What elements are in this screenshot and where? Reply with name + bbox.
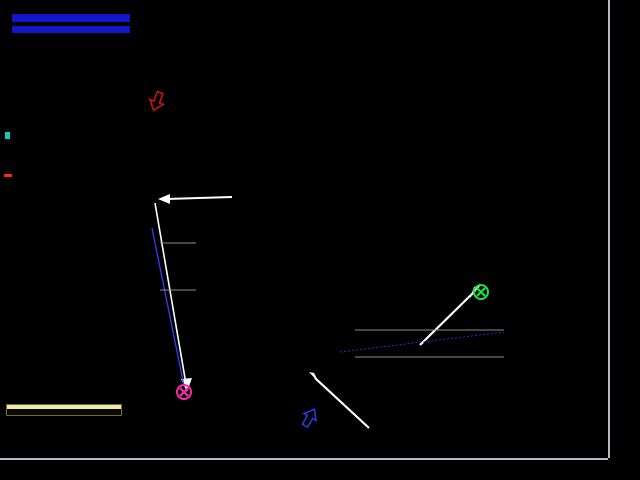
panel-header-bar <box>12 14 130 22</box>
legend-cyan-swatch <box>5 132 10 139</box>
chart-plot-area[interactable] <box>0 0 608 458</box>
exit-sell-marker <box>177 385 191 399</box>
chart-graphics <box>0 0 608 458</box>
trend-pro-panel <box>4 14 130 35</box>
axis-corner <box>608 458 640 480</box>
panel-stats-bar <box>12 26 130 33</box>
chart-window <box>0 0 640 480</box>
exit-edge-status <box>7 409 121 415</box>
exit-buy-marker <box>474 285 488 299</box>
annotation-arrows <box>147 90 504 429</box>
exit-edge-box <box>6 404 122 416</box>
legend-red-swatch <box>4 174 12 177</box>
time-axis[interactable] <box>0 458 608 480</box>
price-axis[interactable] <box>608 0 640 458</box>
